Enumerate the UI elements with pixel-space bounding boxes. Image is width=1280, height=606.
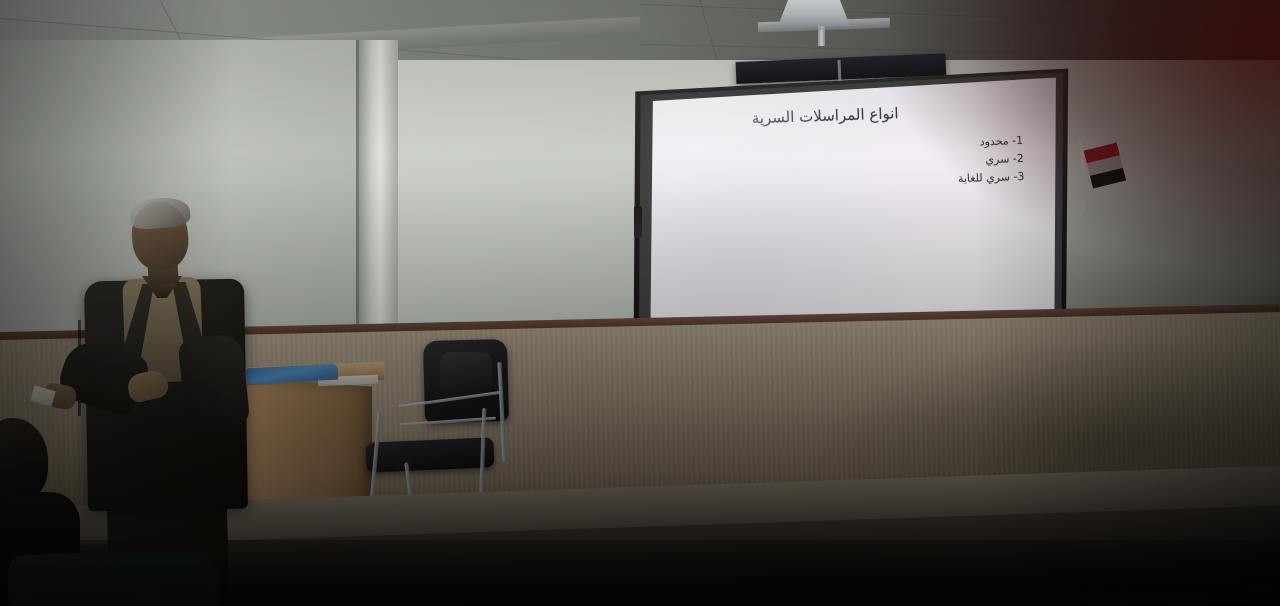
structural-column xyxy=(356,40,398,370)
chair-seat[interactable] xyxy=(365,437,494,473)
chair-backrest-highlight xyxy=(440,352,492,398)
lecture-hall-scene: انواع المراسلات السرية 1- محدود 2- سري 3… xyxy=(0,0,1280,606)
ceiling-projector-icon xyxy=(778,0,850,26)
foreground-bag xyxy=(7,548,219,606)
column-edge xyxy=(356,40,359,370)
slide-title: انواع المراسلات السرية xyxy=(644,100,1006,131)
slide-list: 1- محدود 2- سري 3- سري للغاية xyxy=(645,131,1049,198)
pen-tray[interactable] xyxy=(634,206,642,238)
presenter-arm-right xyxy=(177,333,250,433)
